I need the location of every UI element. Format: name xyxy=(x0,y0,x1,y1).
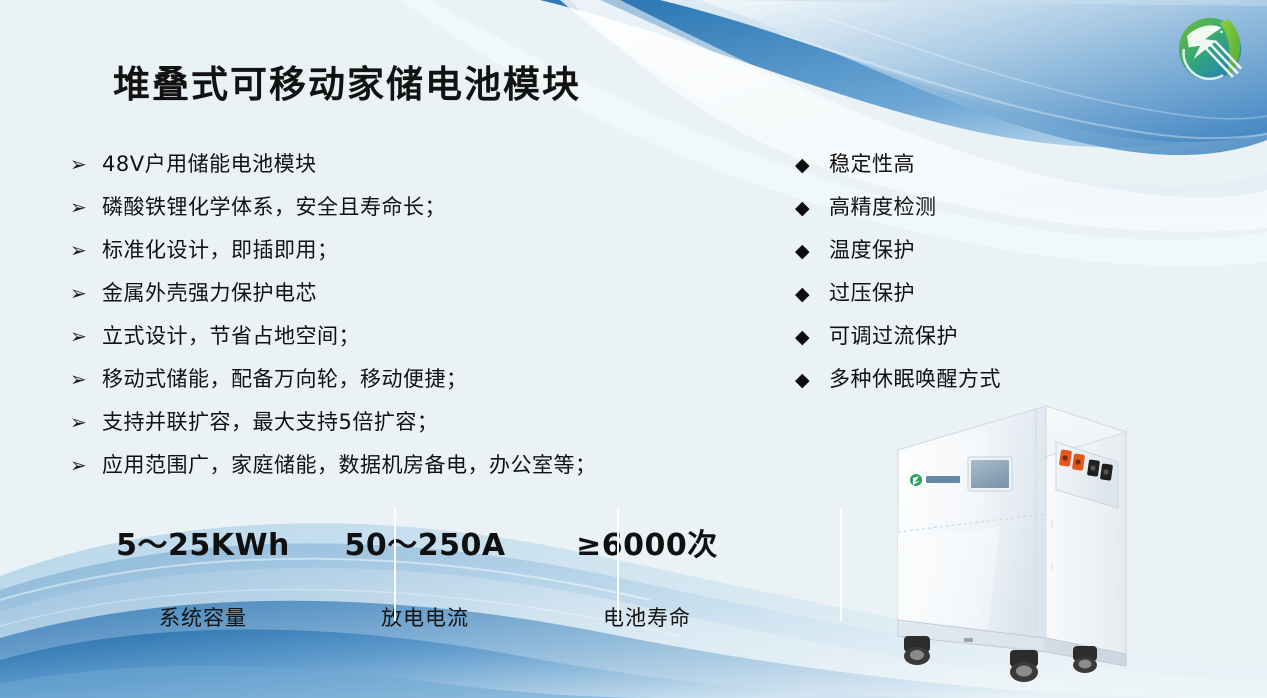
feature-list-left: ➢ 48V户用储能电池模块 ➢ 磷酸铁锂化学体系，安全且寿命长； ➢ 标准化设计… xyxy=(70,148,770,492)
spec-current: 50～250A 放电电流 xyxy=(314,508,536,623)
list-item: ◆ 过压保护 xyxy=(795,277,1095,320)
feature-text: 高精度检测 xyxy=(829,191,937,221)
spec-cycle-life: ≥6000次 电池寿命 xyxy=(536,508,758,623)
arrow-bullet-icon: ➢ xyxy=(70,197,102,217)
list-item: ◆ 高精度检测 xyxy=(795,191,1095,234)
list-item: ➢ 标准化设计，即插即用； xyxy=(70,234,770,277)
arrow-bullet-icon: ➢ xyxy=(70,240,102,260)
company-logo-icon xyxy=(1169,8,1251,90)
feature-text: 立式设计，节省占地空间； xyxy=(102,320,360,350)
diamond-bullet-icon: ◆ xyxy=(795,156,829,175)
list-item: ◆ 稳定性高 xyxy=(795,148,1095,191)
arrow-bullet-icon: ➢ xyxy=(70,412,102,432)
list-item: ➢ 应用范围广，家庭储能，数据机房备电，办公室等； xyxy=(70,449,770,492)
list-item: ➢ 移动式储能，配备万向轮，移动便捷； xyxy=(70,363,770,406)
feature-text: 支持并联扩容，最大支持5倍扩容； xyxy=(102,406,438,436)
arrow-bullet-icon: ➢ xyxy=(70,154,102,174)
feature-text: 移动式储能，配备万向轮，移动便捷； xyxy=(102,363,468,393)
diamond-bullet-icon: ◆ xyxy=(795,199,829,218)
spec-label: 系统容量 xyxy=(159,602,247,632)
diamond-bullet-icon: ◆ xyxy=(795,371,829,390)
feature-list-right: ◆ 稳定性高 ◆ 高精度检测 ◆ 温度保护 ◆ 过压保护 ◆ 可调过流保护 ◆ … xyxy=(795,148,1095,406)
diamond-bullet-icon: ◆ xyxy=(795,285,829,304)
feature-text: 应用范围广，家庭储能，数据机房备电，办公室等； xyxy=(102,449,597,479)
feature-text: 温度保护 xyxy=(829,234,915,264)
feature-text: 过压保护 xyxy=(829,277,915,307)
page-title: 堆叠式可移动家储电池模块 xyxy=(113,54,581,108)
list-item: ➢ 磷酸铁锂化学体系，安全且寿命长； xyxy=(70,191,770,234)
feature-text: 多种休眠唤醒方式 xyxy=(829,363,1001,393)
list-item: ◆ 温度保护 xyxy=(795,234,1095,277)
feature-text: 可调过流保护 xyxy=(829,320,958,350)
list-item: ➢ 48V户用储能电池模块 xyxy=(70,148,770,191)
list-item: ➢ 金属外壳强力保护电芯 xyxy=(70,277,770,320)
list-item: ➢ 支持并联扩容，最大支持5倍扩容； xyxy=(70,406,770,449)
list-item: ➢ 立式设计，节省占地空间； xyxy=(70,320,770,363)
feature-text: 48V户用储能电池模块 xyxy=(102,148,317,178)
arrow-bullet-icon: ➢ xyxy=(70,283,102,303)
arrow-bullet-icon: ➢ xyxy=(70,455,102,475)
product-image-battery-cabinet xyxy=(868,392,1138,688)
spec-value: ≥6000次 xyxy=(576,520,718,564)
diamond-bullet-icon: ◆ xyxy=(795,328,829,347)
spec-value: 5～25KWh xyxy=(116,520,290,564)
feature-text: 磷酸铁锂化学体系，安全且寿命长； xyxy=(102,191,446,221)
spec-divider xyxy=(840,508,842,621)
list-item: ◆ 可调过流保护 xyxy=(795,320,1095,363)
feature-text: 标准化设计，即插即用； xyxy=(102,234,339,264)
spec-value: 50～250A xyxy=(344,520,505,564)
feature-text: 稳定性高 xyxy=(829,148,915,178)
spec-highlights: 5～25KWh 系统容量 50～250A 放电电流 ≥6000次 电池寿命 xyxy=(92,508,772,623)
product-display xyxy=(968,457,1012,491)
spec-divider xyxy=(394,508,396,621)
arrow-bullet-icon: ➢ xyxy=(70,369,102,389)
feature-text: 金属外壳强力保护电芯 xyxy=(102,277,317,307)
diamond-bullet-icon: ◆ xyxy=(795,242,829,261)
arrow-bullet-icon: ➢ xyxy=(70,326,102,346)
spec-capacity: 5～25KWh 系统容量 xyxy=(92,508,314,623)
slide-canvas: 堆叠式可移动家储电池模块 ➢ 48V户用储能电池模块 ➢ 磷酸铁锂化学体系，安全… xyxy=(0,0,1267,698)
spec-divider xyxy=(617,508,619,621)
